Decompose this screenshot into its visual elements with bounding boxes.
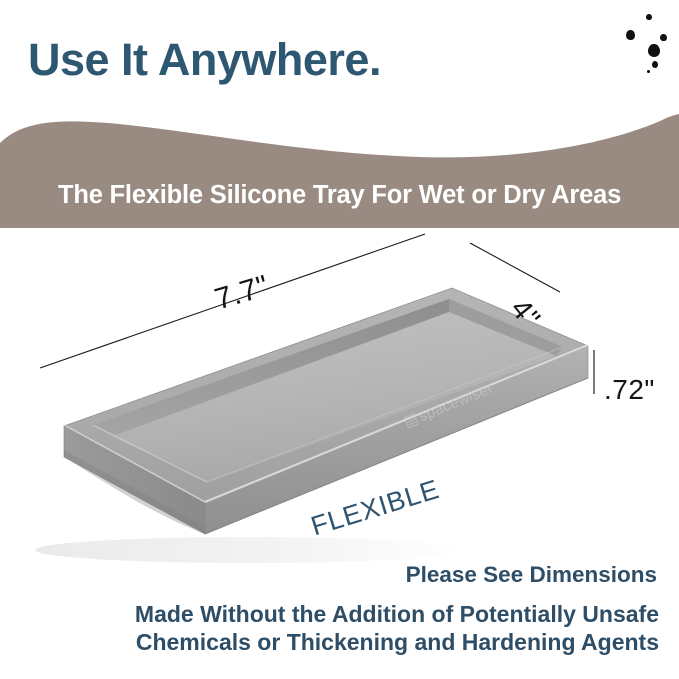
product-marketing-image: Use It Anywhere. The Flexible Silicone T… [0, 0, 679, 679]
made-without-note: Made Without the Addition of Potentially… [0, 600, 659, 656]
subtitle-banner: The Flexible Silicone Tray For Wet or Dr… [0, 113, 679, 228]
decor-dot-4 [648, 44, 660, 57]
see-dimensions-note: Please See Dimensions [406, 562, 657, 588]
dimension-label-height: .72" [604, 374, 655, 406]
decor-dot-2 [626, 30, 635, 40]
water-droplet-dots-icon [612, 14, 674, 78]
decor-dot-1 [646, 14, 652, 20]
made-without-line-2: Chemicals or Thickening and Hardening Ag… [0, 628, 659, 656]
tray-shadow [35, 537, 465, 563]
made-without-line-1: Made Without the Addition of Potentially… [0, 600, 659, 628]
decor-dot-5 [652, 61, 658, 68]
dimension-line-width [470, 243, 560, 292]
decor-dot-6 [647, 70, 650, 73]
decor-dot-3 [660, 34, 667, 41]
page-title: Use It Anywhere. [28, 36, 381, 83]
banner-subtitle: The Flexible Silicone Tray For Wet or Dr… [0, 113, 679, 228]
